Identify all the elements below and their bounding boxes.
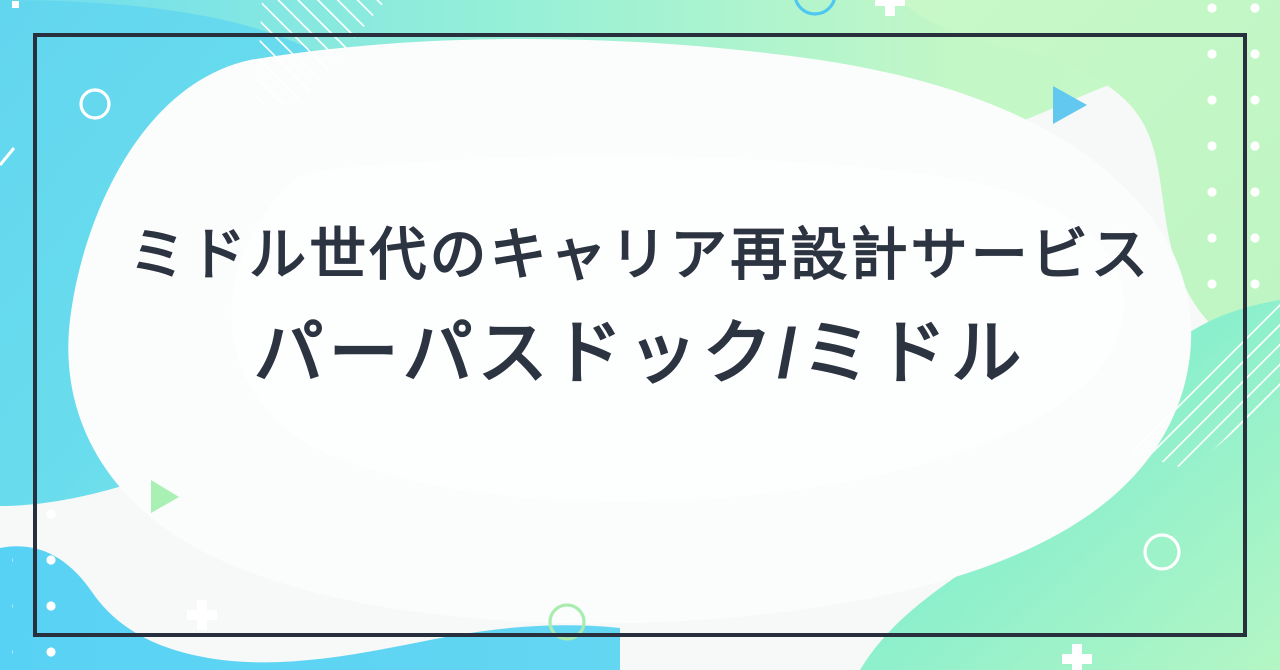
headline-subtitle: ミドル世代のキャリア再設計サービス [0, 222, 1280, 289]
banner-card: ミドル世代のキャリア再設計サービス パーパスドック/ミドル [0, 0, 1280, 670]
headline-block: ミドル世代のキャリア再設計サービス パーパスドック/ミドル [0, 222, 1280, 395]
headline-title: パーパスドック/ミドル [0, 311, 1280, 395]
